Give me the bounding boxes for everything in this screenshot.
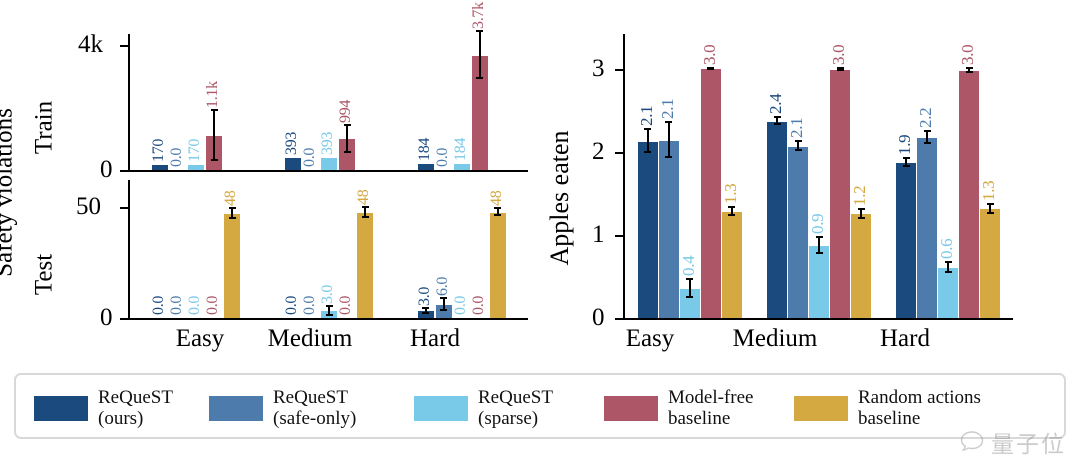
apples-bars-area: 2.12.10.43.01.32.42.10.93.01.21.92.20.63… bbox=[625, 28, 1013, 318]
error-bar-cap bbox=[644, 128, 651, 130]
apples-ytick-2 bbox=[615, 152, 623, 154]
bar-value-label: 3.0 bbox=[320, 285, 336, 304]
bar-apples-eaten-medium-s4 bbox=[851, 214, 871, 318]
error-bar-cap bbox=[966, 67, 973, 69]
error-bar-cap bbox=[686, 296, 693, 298]
bar-value-label: 2.1 bbox=[659, 99, 676, 119]
bar-value-label: 0.0 bbox=[302, 148, 318, 167]
error-bar-cap bbox=[494, 207, 501, 209]
bar-value-label: 994 bbox=[338, 100, 354, 123]
bar-value-label: 393 bbox=[320, 132, 336, 155]
error-bar-cap bbox=[686, 278, 693, 280]
train-bars-area: 1700.01701.1k3930.03939941840.01843.7k bbox=[130, 34, 528, 170]
legend-label-random-actions-baseline: Random actions baseline bbox=[858, 388, 981, 429]
right-cat-medium: Medium bbox=[705, 326, 845, 351]
error-bar bbox=[668, 123, 670, 158]
bar-value-label: 3.0 bbox=[417, 287, 433, 306]
apples-panel: 3 2 1 0 2.12.10.43.01.32.42.10.93.01.21.… bbox=[540, 0, 1080, 324]
bar-safety-violations-train-hard-s2 bbox=[454, 164, 470, 170]
bar-value-label: 48 bbox=[223, 191, 239, 206]
error-bar-cap bbox=[816, 252, 823, 254]
bar-value-label: 0.0 bbox=[338, 296, 354, 315]
bar-value-label: 2.1 bbox=[788, 118, 805, 138]
bar-value-label: 3.0 bbox=[959, 45, 976, 65]
figure-root: Safety violations Train Test 4k 0 1700.0… bbox=[0, 0, 1080, 473]
bar-value-label: 1.3 bbox=[980, 181, 997, 201]
bar-value-label: 1.2 bbox=[851, 186, 868, 206]
bar-value-label: 2.2 bbox=[917, 108, 934, 128]
bar-value-label: 3.0 bbox=[830, 45, 847, 65]
legend-item-model-free-baseline[interactable]: Model-free baseline bbox=[604, 388, 753, 429]
apples-ytick-0 bbox=[615, 318, 623, 320]
bar-safety-violations-train-hard-s0 bbox=[418, 164, 434, 170]
test-bars-area: 0.00.00.00.0480.00.03.00.0483.06.00.00.0… bbox=[130, 180, 528, 318]
error-bar-cap bbox=[987, 203, 994, 205]
bar-apples-eaten-medium-s1 bbox=[788, 147, 808, 319]
legend-swatch-request-safe-only bbox=[209, 396, 263, 421]
bar-safety-violations-test-hard-s4 bbox=[490, 213, 506, 318]
bar-value-label: 0.0 bbox=[435, 148, 451, 167]
error-bar-cap bbox=[945, 261, 952, 263]
error-bar bbox=[647, 130, 649, 153]
apples-ytick-3 bbox=[615, 69, 623, 71]
error-bar-cap bbox=[945, 271, 952, 273]
bar-apples-eaten-hard-s4 bbox=[980, 209, 1000, 318]
bar-value-label: 0.4 bbox=[680, 256, 697, 276]
legend-item-random-actions-baseline[interactable]: Random actions baseline bbox=[794, 388, 981, 429]
bar-safety-violations-train-medium-s0 bbox=[285, 158, 301, 170]
error-bar-cap bbox=[476, 30, 483, 32]
bar-value-label: 3.0 bbox=[701, 44, 718, 64]
bar-value-label: 0.0 bbox=[205, 296, 221, 315]
left-cat-hard: Hard bbox=[385, 326, 485, 351]
error-bar-cap bbox=[211, 109, 218, 111]
legend-item-request-sparse[interactable]: ReQueST (sparse) bbox=[414, 388, 553, 429]
bar-apples-eaten-hard-s0 bbox=[896, 163, 916, 318]
apples-ytick-1 bbox=[615, 235, 623, 237]
error-bar-cap bbox=[665, 156, 672, 158]
error-bar-cap bbox=[362, 216, 369, 218]
error-bar-cap bbox=[362, 206, 369, 208]
apples-ytick-label-2: 2 bbox=[592, 139, 605, 164]
error-bar-cap bbox=[211, 159, 218, 161]
bar-value-label: 0.0 bbox=[169, 148, 185, 167]
bar-apples-eaten-medium-s3 bbox=[830, 70, 850, 318]
right-cat-easy: Easy bbox=[595, 326, 705, 351]
error-bar-cap bbox=[440, 309, 447, 311]
error-bar-cap bbox=[966, 71, 973, 73]
error-bar-cap bbox=[326, 314, 333, 316]
error-bar-cap bbox=[728, 206, 735, 208]
error-bar-cap bbox=[344, 151, 351, 153]
train-panel: 4k 0 1700.01701.1k3930.03939941840.01843… bbox=[0, 0, 540, 176]
legend-swatch-random-actions-baseline bbox=[794, 396, 848, 421]
bar-value-label: 48 bbox=[356, 190, 372, 205]
error-bar-cap bbox=[774, 123, 781, 125]
error-bar-cap bbox=[837, 67, 844, 69]
bar-value-label: 0.0 bbox=[471, 296, 487, 315]
bar-apples-eaten-hard-s3 bbox=[959, 71, 979, 318]
error-bar bbox=[213, 111, 215, 160]
error-bar bbox=[479, 32, 481, 79]
bar-value-label: 2.4 bbox=[767, 94, 784, 114]
error-bar-cap bbox=[903, 157, 910, 159]
train-ytick-0 bbox=[120, 170, 128, 172]
error-bar-cap bbox=[422, 307, 429, 309]
error-bar-cap bbox=[494, 214, 501, 216]
right-cat-hard: Hard bbox=[850, 326, 960, 351]
error-bar-cap bbox=[987, 212, 994, 214]
train-ytick-label-4k: 4k bbox=[78, 32, 103, 57]
bar-apples-eaten-hard-s1 bbox=[917, 138, 937, 318]
test-x-axis bbox=[128, 318, 528, 320]
bar-value-label: 0.0 bbox=[453, 296, 469, 315]
error-bar-cap bbox=[707, 67, 714, 69]
error-bar-cap bbox=[344, 124, 351, 126]
bar-value-label: 0.0 bbox=[284, 296, 300, 315]
test-panel: 50 0 0.00.00.00.0480.00.03.00.0483.06.00… bbox=[0, 176, 540, 324]
bar-value-label: 0.0 bbox=[302, 296, 318, 315]
legend: ReQueST (ours)ReQueST (safe-only)ReQueST… bbox=[14, 373, 1066, 439]
left-cat-medium: Medium bbox=[245, 326, 375, 351]
test-ytick-label-50: 50 bbox=[76, 194, 101, 219]
legend-label-model-free-baseline: Model-free baseline bbox=[668, 388, 753, 429]
test-ytick-label-0: 0 bbox=[100, 305, 113, 330]
bar-apples-eaten-medium-s0 bbox=[767, 122, 787, 318]
bar-apples-eaten-easy-s4 bbox=[722, 212, 742, 318]
bar-value-label: 6.0 bbox=[435, 277, 451, 296]
apples-x-axis bbox=[623, 318, 1013, 320]
train-x-axis bbox=[128, 170, 528, 172]
error-bar-cap bbox=[665, 121, 672, 123]
legend-item-request-safe-only[interactable]: ReQueST (safe-only) bbox=[209, 388, 356, 429]
bar-apples-eaten-easy-s0 bbox=[638, 142, 658, 318]
bar-safety-violations-test-easy-s4 bbox=[224, 214, 240, 318]
bar-apples-eaten-easy-s3 bbox=[701, 69, 721, 318]
legend-label-request-ours: ReQueST (ours) bbox=[98, 388, 173, 429]
bar-apples-eaten-easy-s1 bbox=[659, 141, 679, 318]
error-bar-cap bbox=[924, 130, 931, 132]
bar-value-label: 184 bbox=[453, 138, 469, 161]
bar-value-label: 1.1k bbox=[205, 81, 221, 108]
error-bar-cap bbox=[229, 217, 236, 219]
error-bar-cap bbox=[795, 149, 802, 151]
error-bar-cap bbox=[644, 151, 651, 153]
bar-safety-violations-train-medium-s2 bbox=[321, 158, 337, 170]
error-bar-cap bbox=[795, 140, 802, 142]
apples-ytick-label-3: 3 bbox=[592, 56, 605, 81]
bar-value-label: 2.1 bbox=[638, 106, 655, 126]
bar-value-label: 170 bbox=[151, 139, 167, 162]
error-bar-cap bbox=[229, 207, 236, 209]
bar-value-label: 0.6 bbox=[938, 239, 955, 259]
bar-value-label: 48 bbox=[489, 191, 505, 206]
bar-safety-violations-train-easy-s0 bbox=[152, 165, 168, 170]
left-cat-easy: Easy bbox=[150, 326, 250, 351]
error-bar-cap bbox=[858, 217, 865, 219]
bar-value-label: 184 bbox=[417, 138, 433, 161]
bar-safety-violations-train-easy-s2 bbox=[188, 165, 204, 170]
legend-swatch-request-sparse bbox=[414, 396, 468, 421]
error-bar-cap bbox=[903, 165, 910, 167]
error-bar-cap bbox=[728, 214, 735, 216]
legend-label-request-sparse: ReQueST (sparse) bbox=[478, 388, 553, 429]
bar-value-label: 3.7k bbox=[471, 2, 487, 29]
error-bar-cap bbox=[774, 116, 781, 118]
bar-apples-eaten-medium-s2 bbox=[809, 246, 829, 318]
error-bar-cap bbox=[858, 208, 865, 210]
bar-value-label: 0.0 bbox=[169, 296, 185, 315]
legend-swatch-request-ours bbox=[34, 396, 88, 421]
bar-value-label: 0.0 bbox=[187, 296, 203, 315]
legend-label-request-safe-only: ReQueST (safe-only) bbox=[273, 388, 356, 429]
legend-swatch-model-free-baseline bbox=[604, 396, 658, 421]
error-bar-cap bbox=[476, 77, 483, 79]
apples-ytick-label-1: 1 bbox=[592, 222, 605, 247]
bar-value-label: 1.9 bbox=[896, 135, 913, 155]
train-ytick-4k bbox=[120, 45, 128, 47]
error-bar-cap bbox=[440, 297, 447, 299]
test-ytick-0 bbox=[120, 318, 128, 320]
legend-item-request-ours[interactable]: ReQueST (ours) bbox=[34, 388, 173, 429]
bar-value-label: 0.0 bbox=[151, 296, 167, 315]
bar-safety-violations-test-medium-s4 bbox=[357, 213, 373, 318]
bar-value-label: 1.3 bbox=[722, 183, 739, 203]
test-ytick-50 bbox=[120, 207, 128, 209]
bar-apples-eaten-hard-s2 bbox=[938, 268, 958, 318]
bar-value-label: 393 bbox=[284, 132, 300, 155]
error-bar-cap bbox=[422, 312, 429, 314]
error-bar-cap bbox=[924, 142, 931, 144]
bar-value-label: 0.9 bbox=[809, 213, 826, 233]
error-bar-cap bbox=[326, 305, 333, 307]
bar-value-label: 170 bbox=[187, 139, 203, 162]
error-bar bbox=[346, 126, 348, 153]
error-bar-cap bbox=[816, 236, 823, 238]
